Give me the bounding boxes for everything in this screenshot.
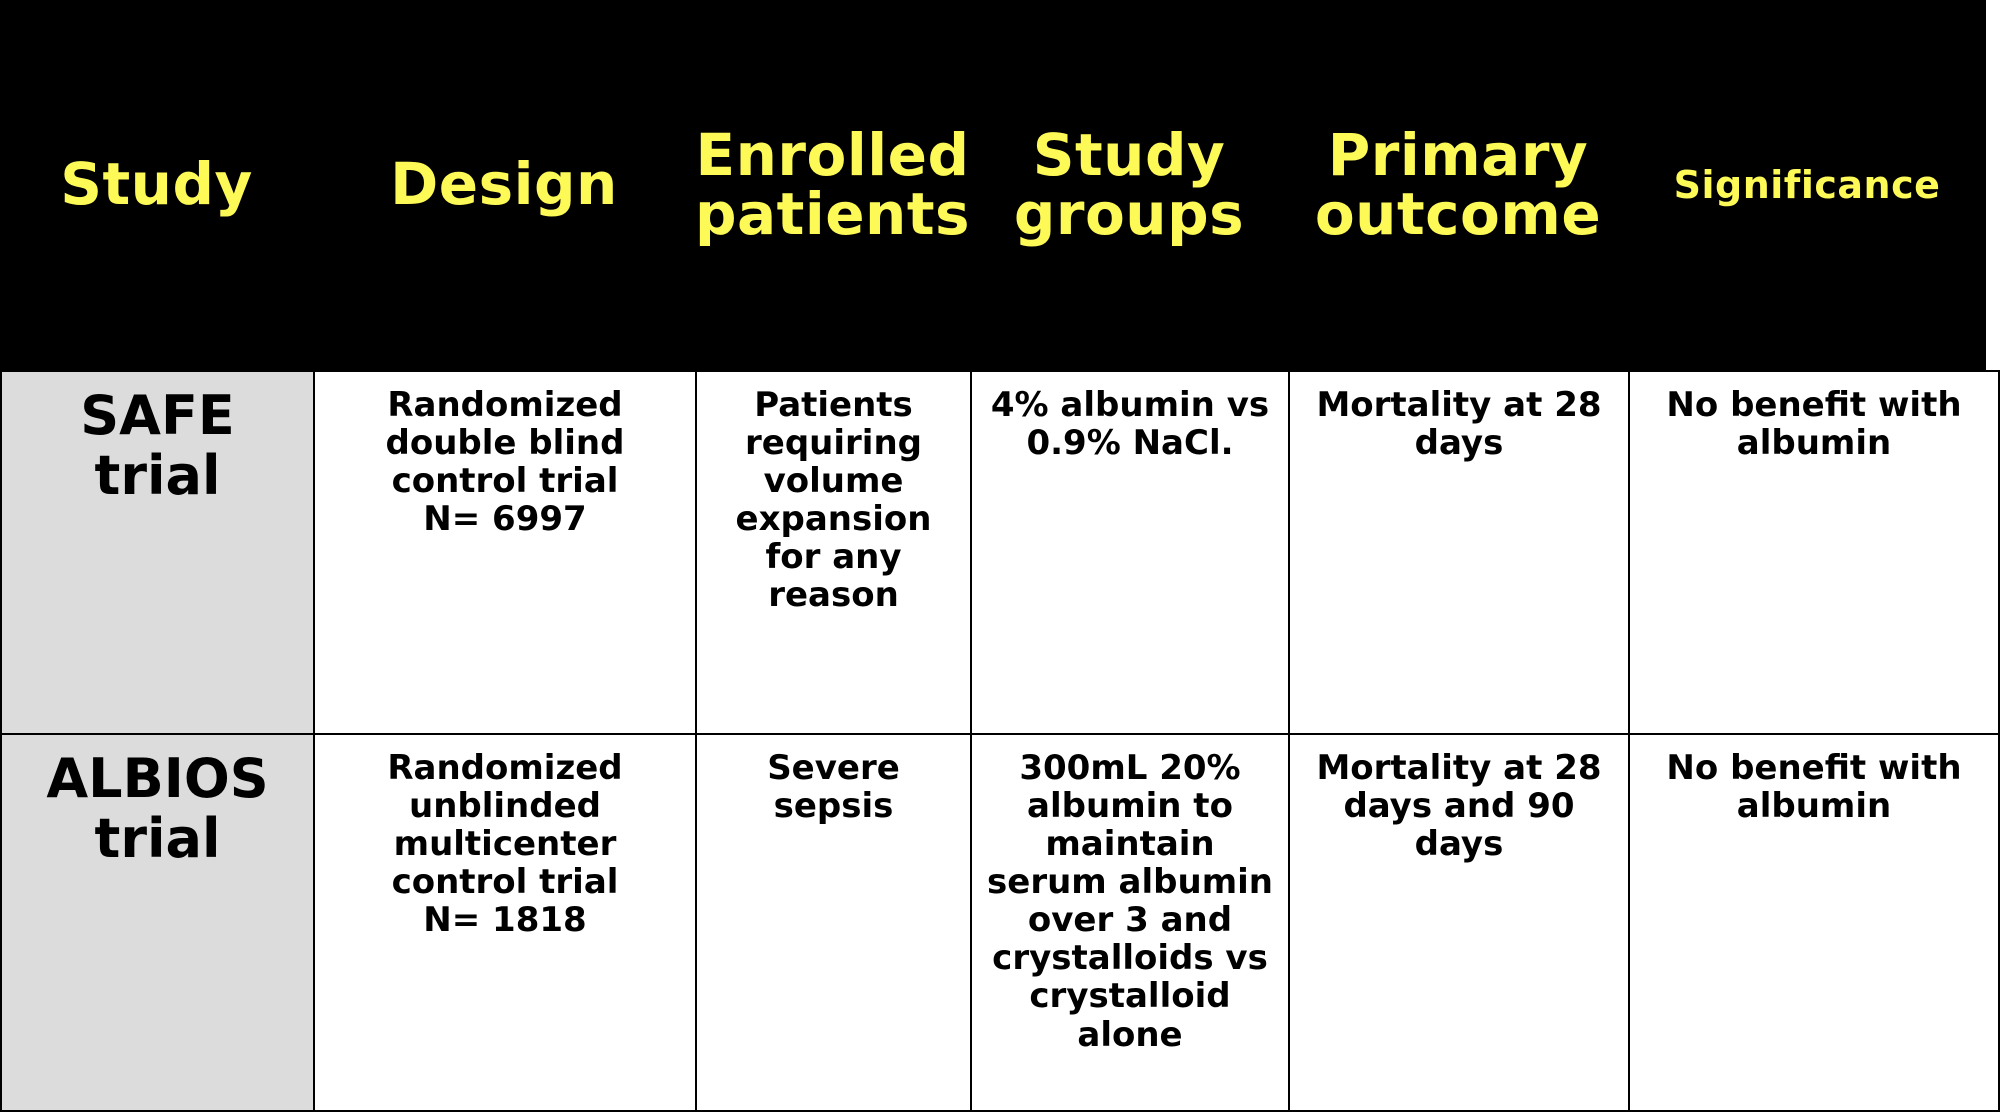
table-page: Study Design Enrolled patients Study gro…: [0, 0, 2014, 1112]
study-name-line2: trial: [12, 809, 303, 869]
column-header-study-groups: Study groups: [970, 0, 1288, 370]
design-sample-size: N= 1818: [325, 901, 685, 939]
table-header-band: Study Design Enrolled patients Study gro…: [0, 0, 1986, 370]
cell-study-name: ALBIOS trial: [1, 734, 314, 1111]
column-header-primary-outcome-line1: Primary: [1315, 126, 1601, 185]
study-name-line1: SAFE: [12, 386, 303, 446]
cell-study-groups: 300mL 20% albumin to maintain serum albu…: [971, 734, 1289, 1111]
design-description: Randomized unblinded multicenter control…: [325, 749, 685, 901]
cell-significance: No benefit with albumin: [1629, 734, 1999, 1111]
design-sample-size: N= 6997: [325, 500, 685, 538]
column-header-study-groups-line2: groups: [1014, 185, 1244, 244]
column-header-primary-outcome-line2: outcome: [1315, 185, 1601, 244]
table-row: SAFE trial Randomized double blind contr…: [1, 371, 1999, 734]
cell-enrolled-patients: Severe sepsis: [696, 734, 971, 1111]
column-header-enrolled-patients: Enrolled patients: [695, 0, 970, 370]
cell-design: Randomized double blind control trial N=…: [314, 371, 696, 734]
column-header-enrolled-line2: patients: [695, 185, 970, 244]
column-header-design: Design: [313, 0, 695, 370]
table-row: ALBIOS trial Randomized unblinded multic…: [1, 734, 1999, 1111]
cell-significance: No benefit with albumin: [1629, 371, 1999, 734]
cell-design: Randomized unblinded multicenter control…: [314, 734, 696, 1111]
study-name-line2: trial: [12, 446, 303, 506]
design-description: Randomized double blind control trial: [325, 386, 685, 500]
cell-primary-outcome: Mortality at 28 days and 90 days: [1289, 734, 1629, 1111]
cell-enrolled-patients: Patients requiring volume expansion for …: [696, 371, 971, 734]
cell-study-groups: 4% albumin vs 0.9% NaCl.: [971, 371, 1289, 734]
column-header-significance-label: Significance: [1674, 166, 1941, 205]
column-header-design-label: Design: [390, 155, 618, 214]
cell-study-name: SAFE trial: [1, 371, 314, 734]
trials-table: SAFE trial Randomized double blind contr…: [0, 370, 2000, 1112]
cell-primary-outcome: Mortality at 28 days: [1289, 371, 1629, 734]
column-header-significance: Significance: [1628, 0, 1986, 370]
column-header-enrolled-line1: Enrolled: [695, 126, 970, 185]
study-name-line1: ALBIOS: [12, 749, 303, 809]
column-header-study-label: Study: [60, 155, 253, 214]
column-header-primary-outcome: Primary outcome: [1288, 0, 1628, 370]
column-header-study: Study: [0, 0, 313, 370]
column-header-study-groups-line1: Study: [1014, 126, 1244, 185]
